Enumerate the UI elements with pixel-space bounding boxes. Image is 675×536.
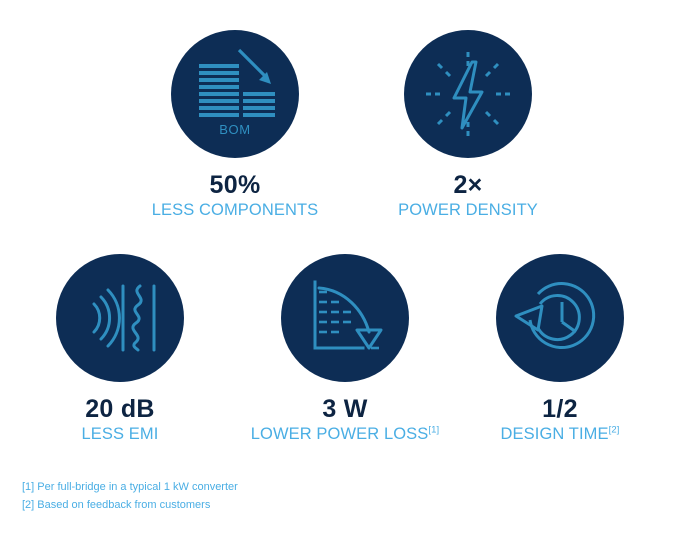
badge-less-emi — [56, 254, 184, 382]
benefit-less-emi: 20 dB LESS EMI — [10, 254, 230, 443]
footnote-1: [1] Per full-bridge in a typical 1 kW co… — [22, 478, 238, 496]
badge-lower-power-loss — [281, 254, 409, 382]
benefit-design-time: 1/2 DESIGN TIME[2] — [450, 254, 670, 443]
bom-icon-label: BOM — [219, 122, 250, 137]
benefit-less-components: BOM 50% LESS COMPONENTS — [125, 30, 345, 219]
badge-power-density — [404, 30, 532, 158]
clock-rewind-icon — [508, 266, 612, 370]
badge-design-time — [496, 254, 624, 382]
benefit-value: 3 W — [235, 396, 455, 422]
benefit-footnote-ref: [2] — [609, 425, 620, 436]
lightning-bolt-icon — [416, 42, 520, 146]
benefit-power-density: 2× POWER DENSITY — [358, 30, 578, 219]
benefit-lower-power-loss: 3 W LOWER POWER LOSS[1] — [235, 254, 455, 443]
benefit-value: 20 dB — [10, 396, 230, 422]
declining-curve-arrow-icon — [293, 266, 397, 370]
bom-reduction-icon: BOM — [183, 42, 287, 146]
benefit-value: 2× — [358, 172, 578, 198]
benefit-caption-text: LESS EMI — [82, 425, 159, 443]
emi-waves-icon — [68, 266, 172, 370]
benefits-infographic: BOM 50% LESS COMPONENTS — [0, 0, 675, 536]
benefit-caption: DESIGN TIME[2] — [450, 425, 670, 443]
benefit-caption: LESS COMPONENTS — [125, 201, 345, 219]
benefit-caption-text: POWER DENSITY — [398, 201, 538, 219]
benefit-caption-text: DESIGN TIME — [501, 425, 609, 443]
footnotes: [1] Per full-bridge in a typical 1 kW co… — [22, 478, 238, 514]
benefit-caption: LOWER POWER LOSS[1] — [235, 425, 455, 443]
benefit-footnote-ref: [1] — [428, 425, 439, 436]
benefit-caption-text: LESS COMPONENTS — [152, 201, 319, 219]
benefit-caption: LESS EMI — [10, 425, 230, 443]
benefit-value: 50% — [125, 172, 345, 198]
benefit-value: 1/2 — [450, 396, 670, 422]
badge-less-components: BOM — [171, 30, 299, 158]
benefit-caption-text: LOWER POWER LOSS — [251, 425, 429, 443]
benefit-caption: POWER DENSITY — [358, 201, 578, 219]
footnote-2: [2] Based on feedback from customers — [22, 496, 238, 514]
